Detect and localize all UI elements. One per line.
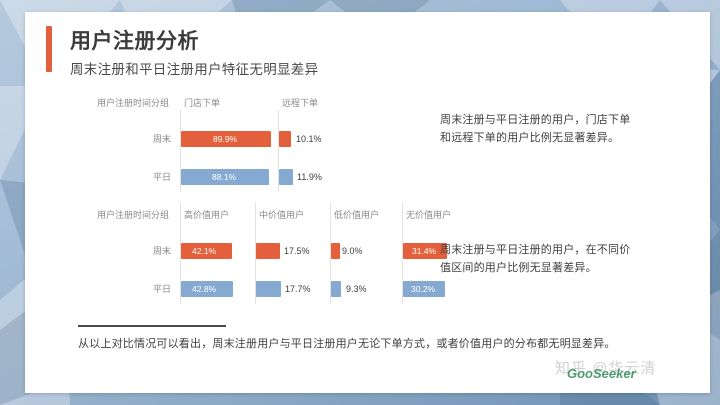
- chart2-value-weekend-high: 42.1%: [192, 243, 216, 259]
- chart-user-value-segments: 用户注册时间分组 高价值用户 中价值用户 低价值用户 无价值用户 周末 42.1…: [61, 208, 456, 304]
- footer-divider: [78, 325, 226, 327]
- slide-card: 用户注册分析 周末注册和平日注册用户特征无明显差异 用户注册时间分组 门店下单 …: [25, 12, 710, 393]
- chart2-value-weekend-low: 9.0%: [342, 243, 363, 259]
- chart1-col-head-1: 远程下单: [282, 96, 318, 109]
- chart2-row-weekday: 平日 42.8% 17.7% 9.3% 30.2%: [61, 276, 456, 302]
- chart2-col-head-1: 中价值用户: [259, 208, 304, 221]
- chart-order-channel: 用户注册时间分组 门店下单 远程下单 周末 89.9% 10.1% 平日 88.…: [61, 96, 391, 192]
- chart1-value-weekday-remote: 11.9%: [297, 169, 322, 185]
- chart1-row-weekday: 平日 88.1% 11.9%: [61, 164, 391, 190]
- title-accent-bar: [46, 26, 52, 72]
- chart1-header-row: 用户注册时间分组 门店下单 远程下单: [61, 96, 391, 116]
- chart2-value-weekday-mid: 17.7%: [285, 281, 311, 297]
- chart2-value-weekend-none: 31.4%: [412, 243, 436, 259]
- chart1-row-weekend: 周末 89.9% 10.1%: [61, 126, 391, 152]
- chart2-col-head-3: 无价值用户: [406, 208, 451, 221]
- chart2-row-weekend: 周末 42.1% 17.5% 9.0% 31.4%: [61, 238, 456, 264]
- chart2-row-label-weekend: 周末: [61, 243, 171, 259]
- chart2-value-weekday-none: 30.2%: [411, 281, 435, 297]
- chart2-value-weekend-mid: 17.5%: [284, 243, 310, 259]
- chart1-bar-weekend-remote: [279, 131, 291, 147]
- footer-conclusion: 从以上对比情况可以看出，周末注册用户与平日注册用户无论下单方式，或者价值用户的分…: [78, 335, 616, 351]
- chart1-row-label-weekday: 平日: [61, 169, 171, 185]
- page-subtitle: 周末注册和平日注册用户特征无明显差异: [70, 58, 318, 78]
- chart1-value-weekday-store: 88.1%: [212, 169, 236, 185]
- chart2-bar-weekday-low: [331, 281, 341, 297]
- chart2-bar-weekday-mid: [256, 281, 281, 297]
- chart2-col-head-2: 低价值用户: [334, 208, 379, 221]
- chart2-value-weekday-low: 9.3%: [346, 281, 367, 297]
- chart2-bar-weekend-low: [331, 243, 340, 259]
- page-title: 用户注册分析: [70, 25, 199, 55]
- chart1-bar-weekday-remote: [279, 169, 293, 185]
- chart2-bar-weekend-mid: [256, 243, 280, 259]
- chart2-header-row: 用户注册时间分组 高价值用户 中价值用户 低价值用户 无价值用户: [61, 208, 456, 228]
- chart1-axis-label: 用户注册时间分组: [61, 96, 169, 109]
- chart2-axis-label: 用户注册时间分组: [61, 208, 169, 221]
- chart1-value-weekend-remote: 10.1%: [296, 131, 322, 147]
- chart2-col-head-0: 高价值用户: [184, 208, 229, 221]
- chart2-row-label-weekday: 平日: [61, 281, 171, 297]
- watermark: 知乎 @华云清 GooSeeker: [555, 357, 705, 389]
- chart2-value-weekday-high: 42.8%: [192, 281, 216, 297]
- annotation-order-channel: 周末注册与平日注册的用户，门店下单和远程下单的用户比例无显著差异。: [440, 111, 640, 147]
- chart1-col-head-0: 门店下单: [184, 96, 220, 109]
- watermark-gooseeker-brand: GooSeeker: [567, 366, 636, 381]
- chart1-value-weekend-store: 89.9%: [213, 131, 237, 147]
- chart1-row-label-weekend: 周末: [61, 131, 171, 147]
- annotation-user-value: 周末注册与平日注册的用户，在不同价值区间的用户比例无显著差异。: [440, 241, 640, 277]
